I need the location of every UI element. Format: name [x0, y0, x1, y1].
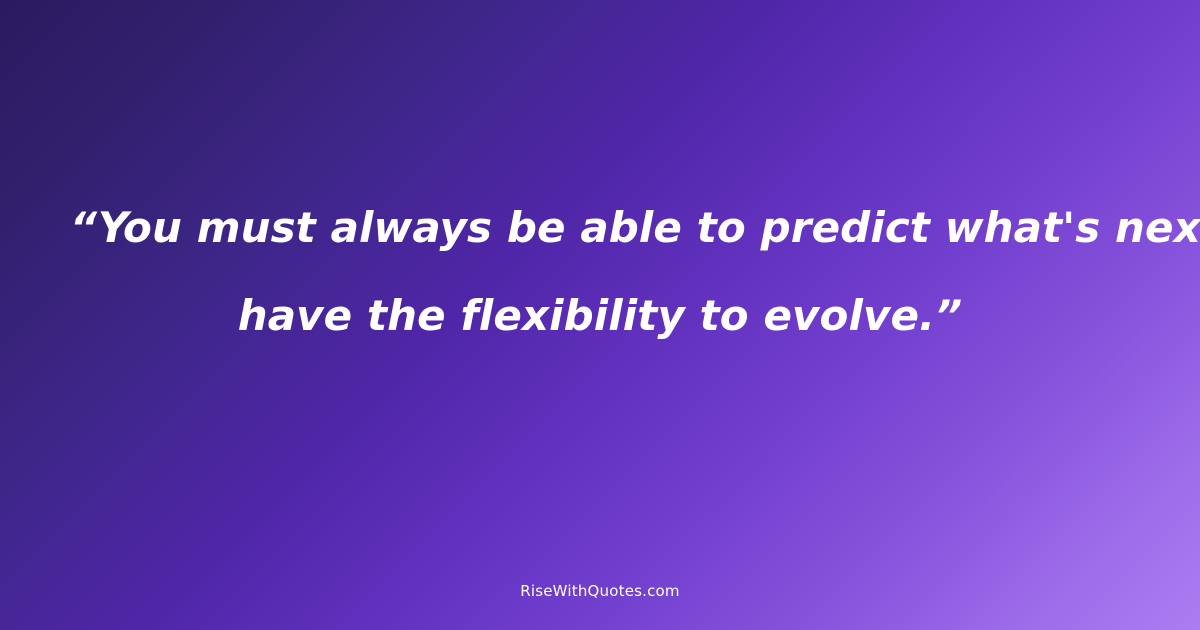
- quote-line-1: “You must always be able to predict what…: [70, 184, 1130, 272]
- quote-card: “You must always be able to predict what…: [0, 0, 1200, 630]
- attribution-site: RiseWithQuotes.com: [0, 581, 1200, 601]
- quote-line-2: have the flexibility to evolve.”: [70, 272, 1130, 360]
- quote-text: “You must always be able to predict what…: [70, 184, 1130, 446]
